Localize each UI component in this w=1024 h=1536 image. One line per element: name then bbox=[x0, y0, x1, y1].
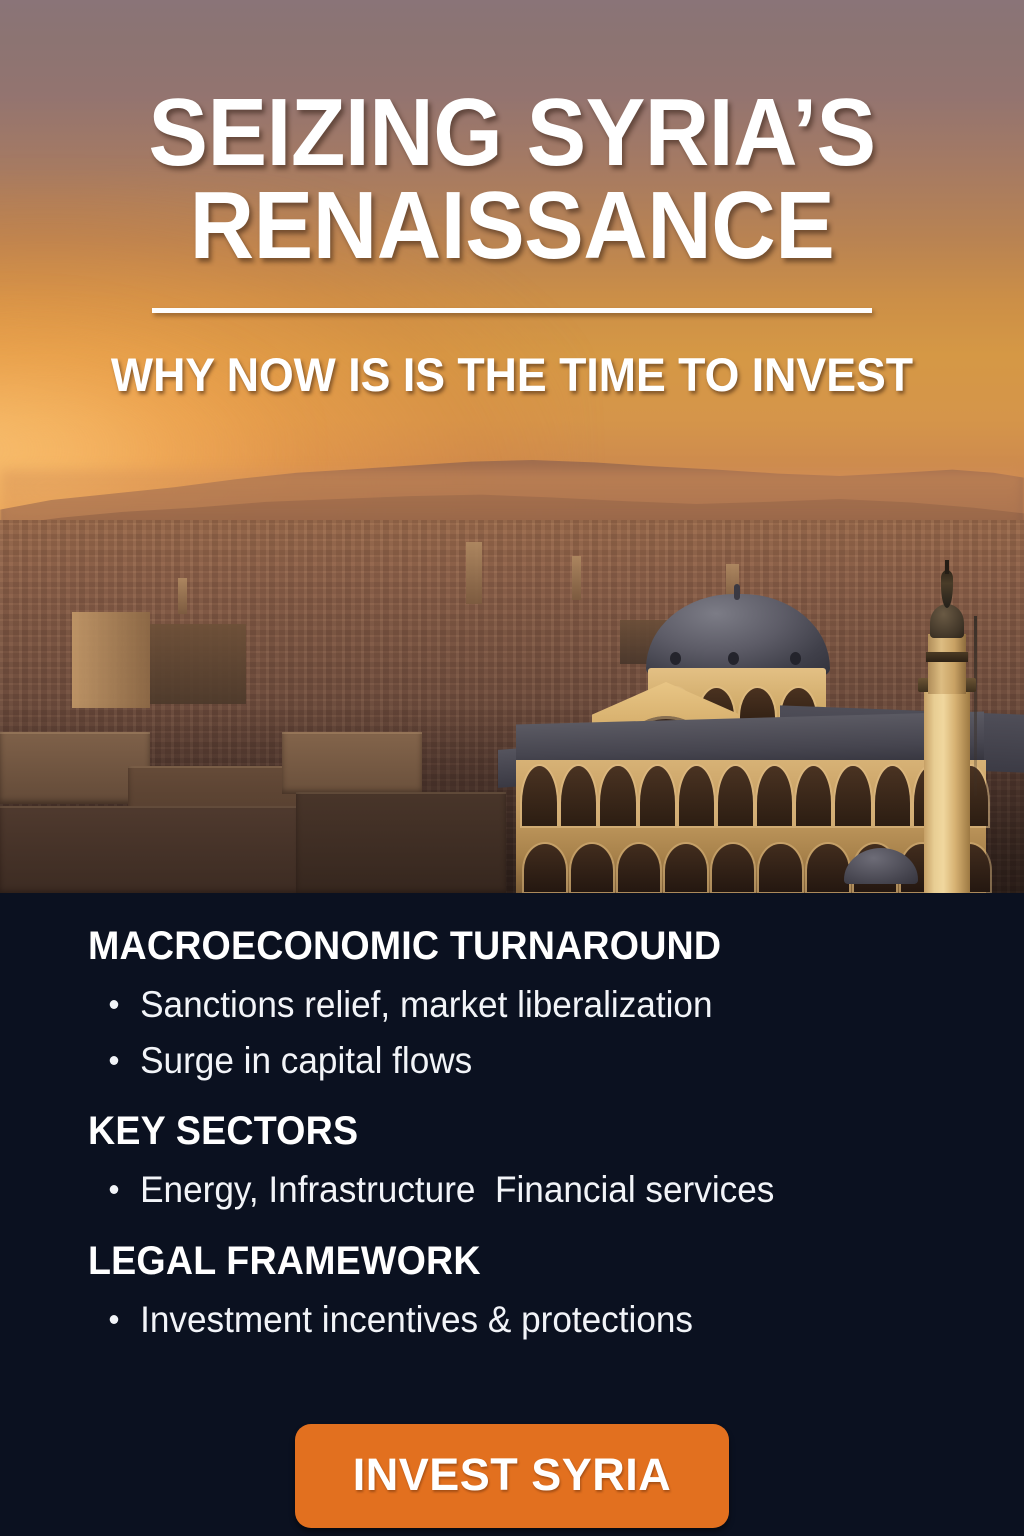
hero-subtitle: WHY NOW IS IS THE TIME TO INVEST bbox=[26, 347, 999, 402]
dome-opening bbox=[728, 652, 739, 665]
minaret-upper-shaft bbox=[928, 634, 966, 694]
section-bullets: Sanctions relief, market liberalization … bbox=[88, 977, 1024, 1088]
facade-arch-lower bbox=[759, 844, 801, 892]
sections-list: MACROECONOMIC TURNAROUND Sanctions relie… bbox=[0, 893, 1024, 1347]
section-legal-framework: LEGAL FRAMEWORK Investment incentives & … bbox=[88, 1240, 1024, 1348]
dome-opening bbox=[790, 652, 801, 665]
facade-arch bbox=[600, 766, 635, 826]
umayyad-mosque bbox=[480, 560, 1024, 893]
facade-arch-lower bbox=[807, 844, 849, 892]
city-block-highrise bbox=[72, 612, 150, 708]
bullet-item: Energy, Infrastructure Financial service… bbox=[104, 1162, 978, 1218]
facade-arch-lower bbox=[571, 844, 613, 892]
city-tower-4 bbox=[178, 578, 187, 614]
facade-arch bbox=[718, 766, 753, 826]
facade-arch-lower bbox=[712, 844, 754, 892]
facade-arch bbox=[679, 766, 714, 826]
facade-arch-lower bbox=[665, 844, 707, 892]
minaret-ring bbox=[926, 652, 968, 662]
facade-arch bbox=[640, 766, 675, 826]
facade-arch bbox=[796, 766, 831, 826]
bullet-item: Investment incentives & protections bbox=[104, 1292, 978, 1348]
section-key-sectors: KEY SECTORS Energy, Infrastructure Finan… bbox=[88, 1110, 1024, 1218]
minaret-spire bbox=[945, 560, 949, 574]
section-spacer bbox=[88, 1218, 1024, 1240]
section-macroeconomic-turnaround: MACROECONOMIC TURNAROUND Sanctions relie… bbox=[88, 925, 1024, 1088]
poster: SEIZING SYRIA’S RENAISSANCE WHY NOW IS I… bbox=[0, 0, 1024, 1536]
section-heading: MACROECONOMIC TURNAROUND bbox=[88, 925, 968, 967]
facade-arch bbox=[835, 766, 870, 826]
title-divider bbox=[152, 308, 872, 313]
hero-photo-damascus-skyline: SEIZING SYRIA’S RENAISSANCE WHY NOW IS I… bbox=[0, 0, 1024, 893]
minaret-finial bbox=[941, 570, 953, 608]
hero-text-block: SEIZING SYRIA’S RENAISSANCE WHY NOW IS I… bbox=[0, 0, 1024, 402]
facade-arch bbox=[757, 766, 792, 826]
minaret-cap bbox=[930, 604, 964, 638]
bullet-item: Sanctions relief, market liberalization bbox=[104, 977, 978, 1033]
section-heading: KEY SECTORS bbox=[88, 1110, 968, 1152]
city-block-slab bbox=[150, 624, 246, 704]
page-title: SEIZING SYRIA’S RENAISSANCE bbox=[36, 86, 988, 272]
facade-arch bbox=[875, 766, 910, 826]
mosque-minaret bbox=[908, 560, 986, 893]
bullet-item: Surge in capital flows bbox=[104, 1033, 978, 1089]
section-heading: LEGAL FRAMEWORK bbox=[88, 1240, 968, 1282]
invest-syria-button[interactable]: INVEST SYRIA bbox=[295, 1424, 730, 1528]
cta-row: INVEST SYRIA bbox=[0, 1424, 1024, 1528]
minaret-shaft bbox=[924, 688, 970, 893]
section-bullets: Energy, Infrastructure Financial service… bbox=[88, 1162, 1024, 1218]
mosque-dome-finial bbox=[734, 584, 740, 600]
dome-opening bbox=[670, 652, 681, 665]
facade-arch bbox=[561, 766, 596, 826]
facade-arch bbox=[522, 766, 557, 826]
mosque-dome-openings bbox=[666, 652, 812, 666]
section-bullets: Investment incentives & protections bbox=[88, 1292, 1024, 1348]
facade-arch-lower bbox=[524, 844, 566, 892]
minaret-antenna bbox=[974, 616, 977, 796]
section-spacer bbox=[88, 1088, 1024, 1110]
facade-arch-lower bbox=[618, 844, 660, 892]
